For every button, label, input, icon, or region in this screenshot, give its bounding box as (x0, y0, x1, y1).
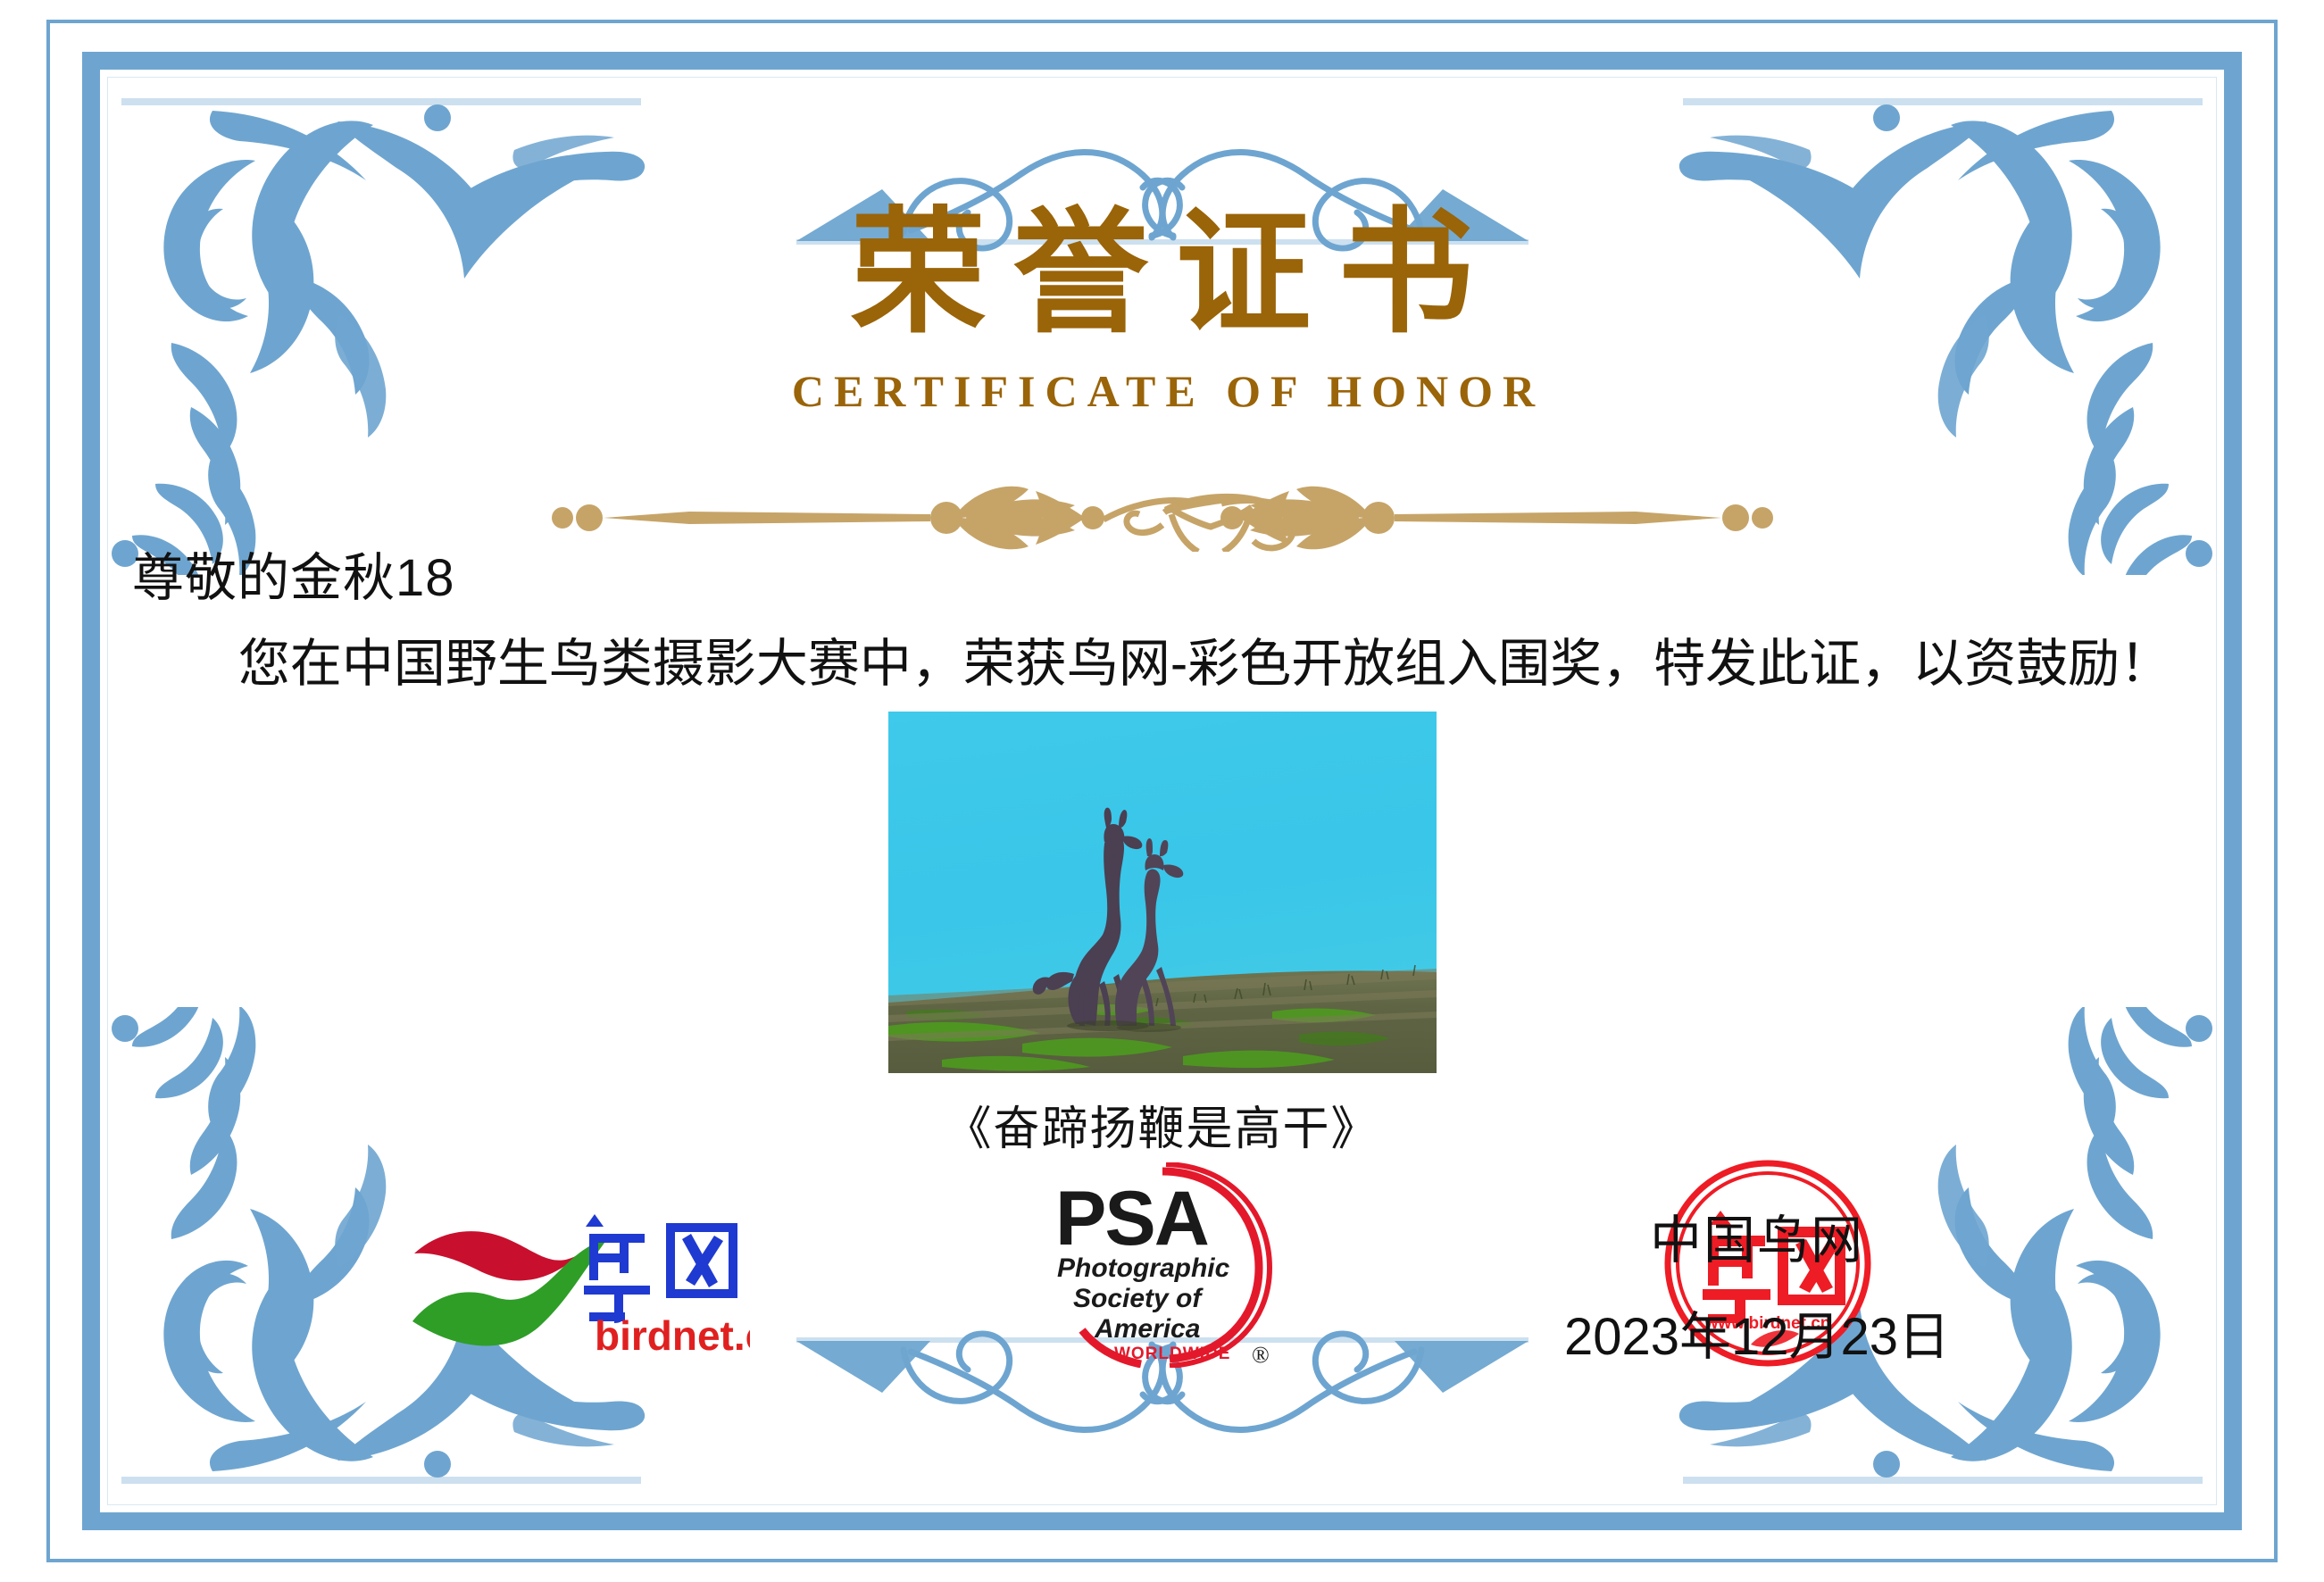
salutation-text: 尊敬的金秋18 (132, 536, 455, 611)
award-photograph (888, 712, 1437, 1073)
psa-line1: Photographic (1057, 1253, 1230, 1283)
certificate-page: 荣誉证书 CERTIFICATE OF HONOR (0, 0, 2324, 1582)
issue-date: 2023年12月23日 (1547, 1295, 1967, 1370)
issuer-name: 中国鸟网 (1547, 1198, 1967, 1273)
birdnet-logo: birdnet.cn (411, 1187, 750, 1357)
psa-line2: Society of (1073, 1284, 1204, 1313)
psa-line3: America (1094, 1314, 1200, 1344)
psa-registered-mark: ® (1252, 1342, 1270, 1368)
issuer-seal-block: www.birdnet.cn 中国鸟网 2023年12月23日 (1547, 1153, 1967, 1412)
psa-line4: WORLDWIDE (1114, 1345, 1230, 1363)
certificate-title-en: CERTIFICATE OF HONOR (12, 365, 2324, 417)
psa-acronym: PSA (1055, 1176, 1208, 1261)
photo-giraffes (888, 712, 1437, 1073)
photo-caption: 《奋蹄扬鞭是高干》 (0, 1091, 2324, 1158)
certificate-header: 荣誉证书 CERTIFICATE OF HONOR (0, 205, 2324, 417)
gold-divider-ornament (546, 482, 1778, 552)
birdnet-domain-text: birdnet.cn (595, 1312, 750, 1357)
body-paragraph: 您在中国野生鸟类摄影大赛中，荣获鸟网-彩色开放组入围奖，特发此证，以资鼓励！ (134, 630, 2190, 699)
psa-logo: PSA Photographic Society of America WORL… (1048, 1162, 1277, 1368)
certificate-title-zh: 荣誉证书 (27, 205, 2324, 344)
certificate-footer: birdnet.cn PSA Photographic Society of A… (143, 1177, 2181, 1427)
